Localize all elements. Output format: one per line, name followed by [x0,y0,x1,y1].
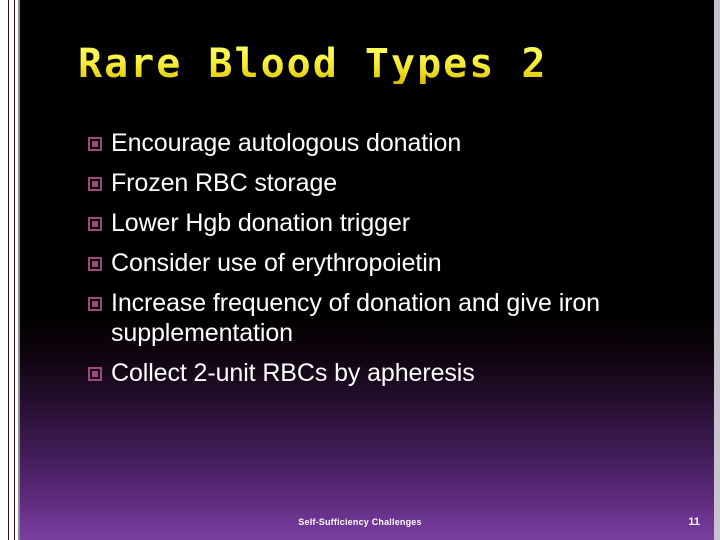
list-item: Collect 2-unit RBCs by apheresis [88,358,680,388]
slide-page-number: 11 [688,516,700,528]
square-in-square-bullet-icon [88,217,102,231]
left-border-line-outer [8,0,9,540]
bullet-list: Encourage autologous donation Frozen RBC… [88,128,680,398]
list-item-label: Frozen RBC storage [111,168,337,198]
list-item: Increase frequency of donation and give … [88,288,680,348]
list-item-label: Consider use of erythropoietin [111,248,442,278]
list-item-label: Increase frequency of donation and give … [111,288,680,348]
slide-footer: Self-Sufficiency Challenges [0,517,720,527]
list-item-label: Lower Hgb donation trigger [111,208,410,238]
left-border-line-gray [18,0,20,540]
square-in-square-bullet-icon [88,257,102,271]
list-item: Frozen RBC storage [88,168,680,198]
list-item: Encourage autologous donation [88,128,680,158]
square-in-square-bullet-icon [88,367,102,381]
slide-title: Rare Blood Types 2 [78,44,547,84]
list-item-label: Collect 2-unit RBCs by apheresis [111,358,475,388]
list-item: Lower Hgb donation trigger [88,208,680,238]
left-border-line-inner [14,0,15,540]
presentation-slide: Rare Blood Types 2 Encourage autologous … [0,0,720,540]
list-item-label: Encourage autologous donation [111,128,461,158]
square-in-square-bullet-icon [88,177,102,191]
square-in-square-bullet-icon [88,297,102,311]
right-edge-strip [714,0,720,540]
list-item: Consider use of erythropoietin [88,248,680,278]
square-in-square-bullet-icon [88,137,102,151]
